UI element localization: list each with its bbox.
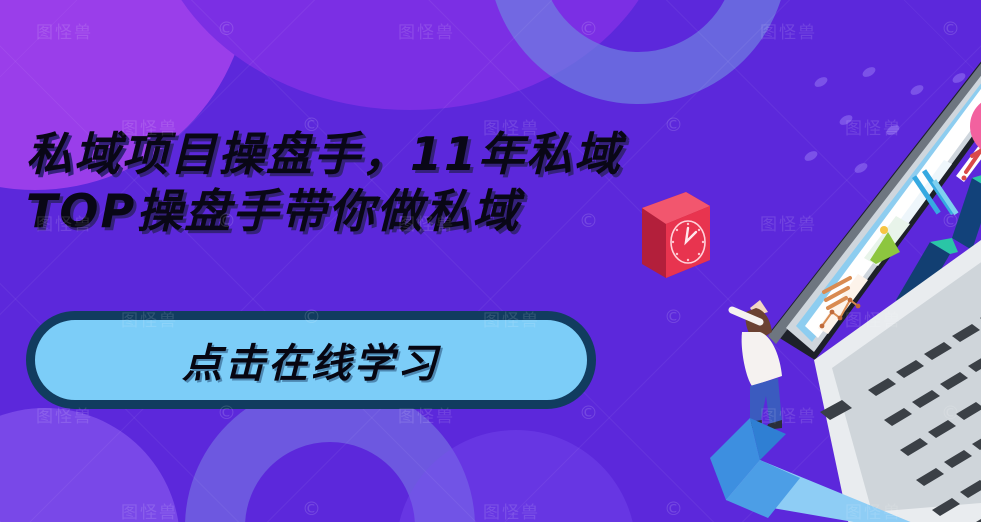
promo-banner: 私域项目操盘手，11年私域 TOP操盘手带你做私域 点击在线学习 图怪兽©图怪兽… (0, 0, 981, 522)
page-title: 私域项目操盘手，11年私域 TOP操盘手带你做私域 (26, 126, 756, 240)
headline-line-1: 私域项目操盘手，11年私域 (26, 126, 756, 183)
person-standing (732, 300, 782, 430)
headline-line-2: TOP操盘手带你做私域 (26, 183, 756, 240)
cta-button-label: 点击在线学习 (182, 331, 440, 389)
online-learning-cta-button[interactable]: 点击在线学习 (26, 311, 596, 409)
